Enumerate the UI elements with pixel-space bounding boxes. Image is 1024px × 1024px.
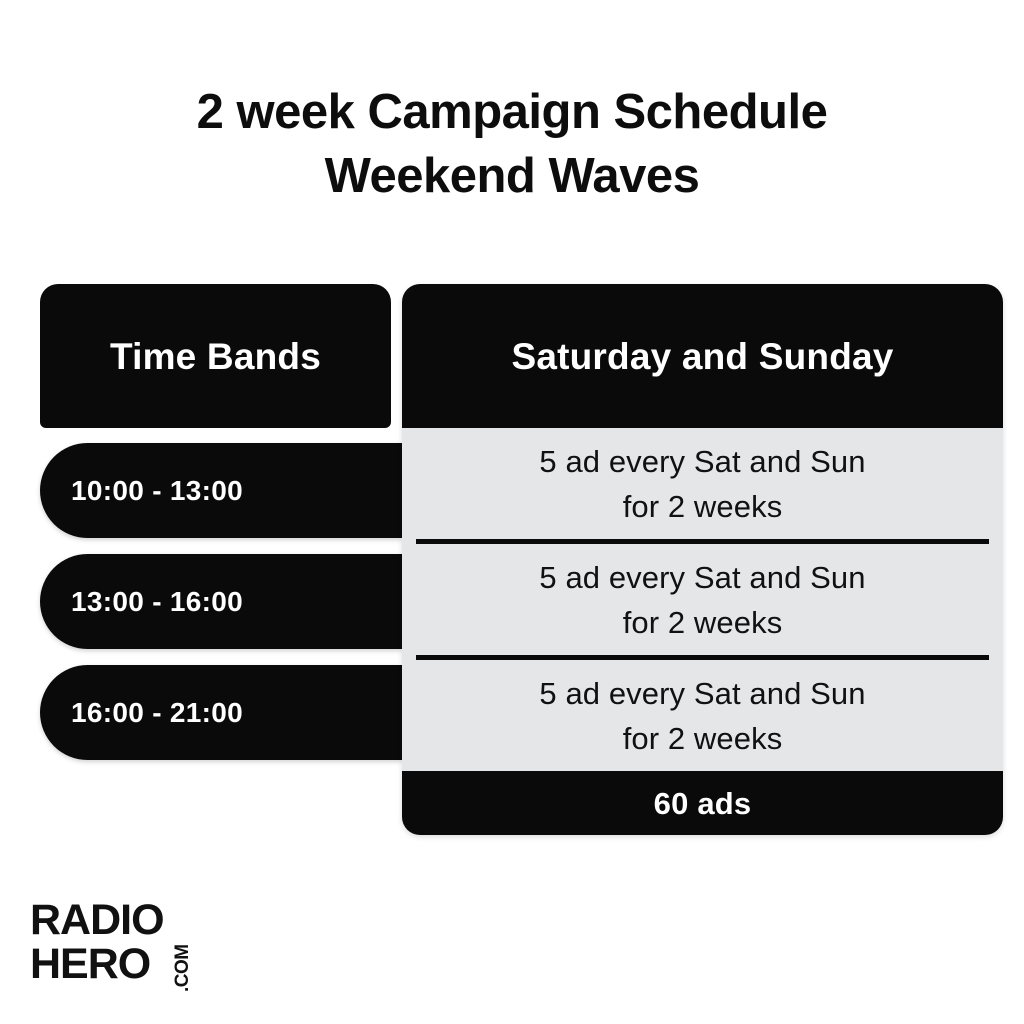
schedule-cell-1-line-1: 5 ad every Sat and Sun	[539, 439, 865, 484]
weekend-header: Saturday and Sunday	[402, 284, 1003, 428]
logo-line-radio: RADIO	[30, 898, 260, 942]
weekend-header-label: Saturday and Sunday	[511, 338, 893, 375]
radiohero-logo: RADIO HERO .COM	[30, 898, 260, 994]
total-ads-bar: 60 ads	[402, 771, 1003, 835]
logo-dotcom-suffix: .COM	[173, 944, 192, 992]
total-ads-label: 60 ads	[654, 788, 752, 819]
time-band-label-1: 10:00 - 13:00	[40, 477, 243, 505]
logo-line-hero: HERO	[30, 942, 150, 986]
time-band-label-2: 13:00 - 16:00	[40, 588, 243, 616]
time-band-row-2: 13:00 - 16:00	[40, 554, 402, 649]
schedule-table: Time Bands 10:00 - 13:00 13:00 - 16:00 1…	[0, 0, 1024, 1024]
poster-canvas: 2 week Campaign Schedule Weekend Waves T…	[0, 0, 1024, 1024]
schedule-cells: 5 ad every Sat and Sun for 2 weeks 5 ad …	[402, 428, 1003, 771]
schedule-cell-1-line-2: for 2 weeks	[623, 484, 783, 529]
schedule-cell-2-line-1: 5 ad every Sat and Sun	[539, 555, 865, 600]
schedule-cell-3-line-1: 5 ad every Sat and Sun	[539, 671, 865, 716]
time-band-label-3: 16:00 - 21:00	[40, 699, 243, 727]
schedule-cell-1: 5 ad every Sat and Sun for 2 weeks	[402, 428, 1003, 539]
time-band-row-1: 10:00 - 13:00	[40, 443, 402, 538]
logo-row-hero: HERO .COM	[30, 942, 260, 986]
schedule-cell-2: 5 ad every Sat and Sun for 2 weeks	[402, 544, 1003, 655]
schedule-cell-2-line-2: for 2 weeks	[623, 600, 783, 645]
schedule-cell-3: 5 ad every Sat and Sun for 2 weeks	[402, 660, 1003, 771]
time-bands-header-label: Time Bands	[110, 338, 321, 375]
time-band-row-3: 16:00 - 21:00	[40, 665, 402, 760]
schedule-cell-3-line-2: for 2 weeks	[623, 716, 783, 761]
time-bands-header: Time Bands	[40, 284, 391, 428]
weekend-column: Saturday and Sunday 5 ad every Sat and S…	[402, 284, 1003, 835]
